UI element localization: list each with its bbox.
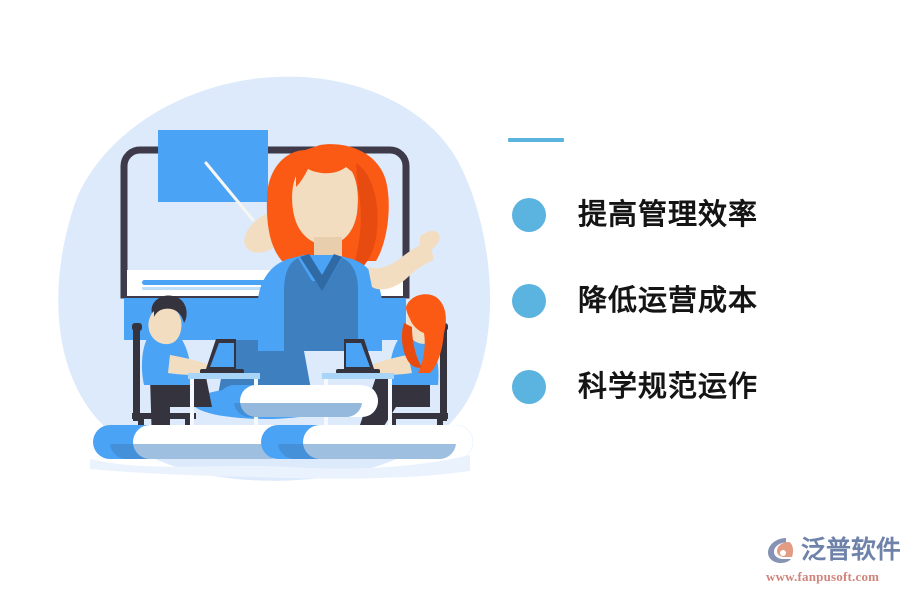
bullet-dot-icon	[512, 284, 546, 318]
benefit-label-2: 降低运营成本	[578, 287, 758, 316]
presentation-board	[158, 130, 268, 202]
book-row-upper	[218, 385, 378, 417]
brand-name: 泛普软件	[801, 538, 900, 563]
online-classroom-illustration	[20, 55, 500, 485]
bullet-dot-icon	[512, 198, 546, 232]
brand-logo: 泛普软件 www.fanpusoft.com	[766, 534, 891, 588]
benefit-label-3: 科学规范运作	[578, 373, 758, 402]
list-item: 提高管理效率	[512, 172, 852, 258]
list-item: 降低运营成本	[512, 258, 852, 344]
brand-url: www.fanpusoft.com	[766, 569, 891, 585]
brand-logo-row: 泛普软件	[766, 534, 891, 566]
book-row-lower-right	[261, 425, 473, 459]
page-root: 提高管理效率 降低运营成本 科学规范运作 泛普软件 www.fanpusoft.…	[0, 0, 900, 600]
bullet-dot-icon	[512, 370, 546, 404]
fanpu-logo-icon	[766, 535, 798, 565]
list-item: 科学规范运作	[512, 344, 852, 430]
accent-rule	[508, 138, 564, 142]
benefit-list: 提高管理效率 降低运营成本 科学规范运作	[512, 172, 852, 430]
benefit-label-1: 提高管理效率	[578, 201, 758, 230]
